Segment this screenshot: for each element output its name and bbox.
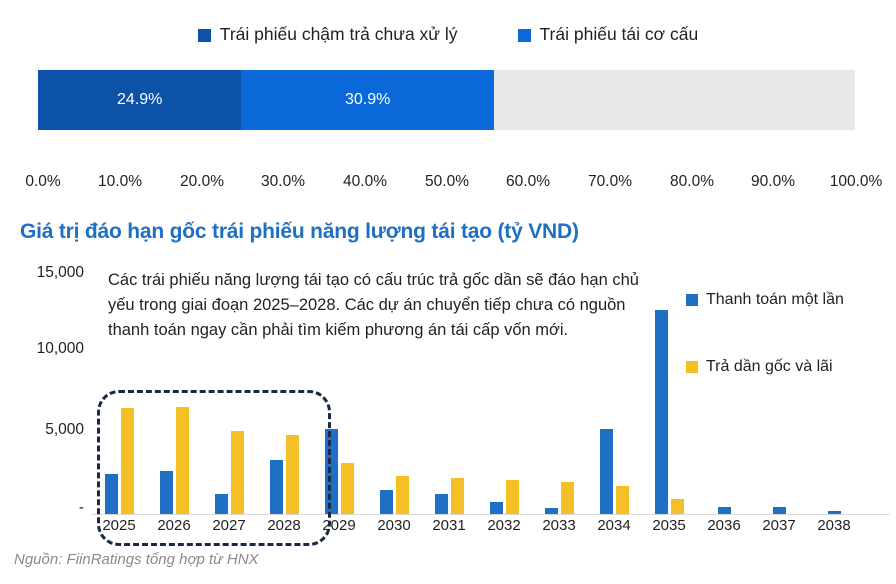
x-axis-tick-2034: 2034 xyxy=(597,517,630,534)
x-axis-tick-2033: 2033 xyxy=(542,517,575,534)
legend-label-lump-sum: Thanh toán một lần xyxy=(706,290,844,309)
x-axis-tick-2031: 2031 xyxy=(432,517,465,534)
x-axis-tick-2036: 2036 xyxy=(707,517,740,534)
stacked-segment-overdue: 24.9% xyxy=(38,70,241,130)
y-axis-tick: - xyxy=(79,499,84,517)
percent-tick: 100.0% xyxy=(830,173,883,191)
bar-amortized xyxy=(451,478,464,514)
legend-item-amortized: Trả dần gốc và lãi xyxy=(686,357,896,376)
bar-lump-sum xyxy=(545,508,558,514)
x-axis-tick-2038: 2038 xyxy=(817,517,850,534)
bar-lump-sum xyxy=(160,471,173,514)
x-axis-tick-2032: 2032 xyxy=(487,517,520,534)
bar-amortized xyxy=(176,407,189,514)
y-axis-tick: 10,000 xyxy=(37,340,84,358)
bar-amortized xyxy=(506,480,519,514)
bar-lump-sum xyxy=(490,502,503,514)
chart-title: Giá trị đáo hạn gốc trái phiếu năng lượn… xyxy=(20,220,780,244)
percent-tick: 60.0% xyxy=(506,173,550,191)
percent-tick: 90.0% xyxy=(751,173,795,191)
bar-amortized xyxy=(286,435,299,514)
x-axis-tick-2025: 2025 xyxy=(102,517,135,534)
x-axis-tick-2028: 2028 xyxy=(267,517,300,534)
bar-lump-sum xyxy=(215,494,228,514)
legend-label-restructured: Trái phiếu tái cơ cấu xyxy=(540,26,699,44)
percent-tick: 30.0% xyxy=(261,173,305,191)
square-swatch-icon xyxy=(518,29,531,42)
x-axis-tick-2029: 2029 xyxy=(322,517,355,534)
bar-lump-sum xyxy=(718,507,731,514)
bar-lump-sum xyxy=(105,474,118,514)
percent-tick: 40.0% xyxy=(343,173,387,191)
percent-tick: 0.0% xyxy=(25,173,60,191)
legend-label-overdue: Trái phiếu chậm trả chưa xử lý xyxy=(220,26,458,44)
x-axis-tick-2026: 2026 xyxy=(157,517,190,534)
bar-amortized xyxy=(396,476,409,514)
bar-lump-sum xyxy=(773,507,786,514)
y-axis-tick: 5,000 xyxy=(45,421,84,439)
square-swatch-icon xyxy=(686,294,698,306)
axis-baseline xyxy=(92,514,890,516)
legend-label-amortized: Trả dần gốc và lãi xyxy=(706,357,833,376)
square-swatch-icon xyxy=(198,29,211,42)
bar-amortized xyxy=(341,463,354,514)
stacked-segment-remainder xyxy=(494,70,855,130)
bar-lump-sum xyxy=(435,494,448,514)
legend-item-restructured: Trái phiếu tái cơ cấu xyxy=(518,26,699,44)
bar-amortized xyxy=(616,486,629,514)
x-axis-tick-2027: 2027 xyxy=(212,517,245,534)
bar-amortized xyxy=(671,499,684,514)
chart-annotation: Các trái phiếu năng lượng tái tạo có cấu… xyxy=(108,268,668,343)
source-note: Nguồn: FiinRatings tổng hợp từ HNX xyxy=(14,551,259,568)
x-axis-tick-2030: 2030 xyxy=(377,517,410,534)
top-chart-legend: Trái phiếu chậm trả chưa xử lý Trái phiế… xyxy=(0,22,896,48)
percent-tick: 20.0% xyxy=(180,173,224,191)
stacked-segment-restructured-label: 30.9% xyxy=(345,91,390,109)
x-axis-tick-2037: 2037 xyxy=(762,517,795,534)
percent-tick: 80.0% xyxy=(670,173,714,191)
x-axis: 2025 2026 2027 2028 2029 2030 2031 2032 … xyxy=(92,517,890,543)
y-axis-tick: 15,000 xyxy=(37,264,84,282)
stacked-segment-overdue-label: 24.9% xyxy=(117,91,162,109)
square-swatch-icon xyxy=(686,361,698,373)
percent-tick: 10.0% xyxy=(98,173,142,191)
percent-tick: 70.0% xyxy=(588,173,632,191)
bar-lump-sum xyxy=(380,490,393,514)
percent-tick: 50.0% xyxy=(425,173,469,191)
bar-lump-sum xyxy=(270,460,283,514)
bar-amortized xyxy=(231,431,244,514)
bar-lump-sum xyxy=(325,429,338,514)
bar-lump-sum xyxy=(600,429,613,514)
percent-axis: 0.0% 10.0% 20.0% 30.0% 40.0% 50.0% 60.0%… xyxy=(0,173,896,195)
bar-amortized xyxy=(121,408,134,514)
y-axis: 15,000 10,000 5,000 - xyxy=(0,255,90,545)
bar-chart-legend: Thanh toán một lần Trả dần gốc và lãi xyxy=(686,290,896,424)
bar-lump-sum xyxy=(828,511,841,514)
x-axis-tick-2035: 2035 xyxy=(652,517,685,534)
legend-item-lump-sum: Thanh toán một lần xyxy=(686,290,896,309)
bar-amortized xyxy=(561,482,574,514)
stacked-bar-chart: 24.9% 30.9% xyxy=(38,70,855,130)
stacked-segment-restructured: 30.9% xyxy=(241,70,493,130)
legend-item-overdue: Trái phiếu chậm trả chưa xử lý xyxy=(198,26,458,44)
